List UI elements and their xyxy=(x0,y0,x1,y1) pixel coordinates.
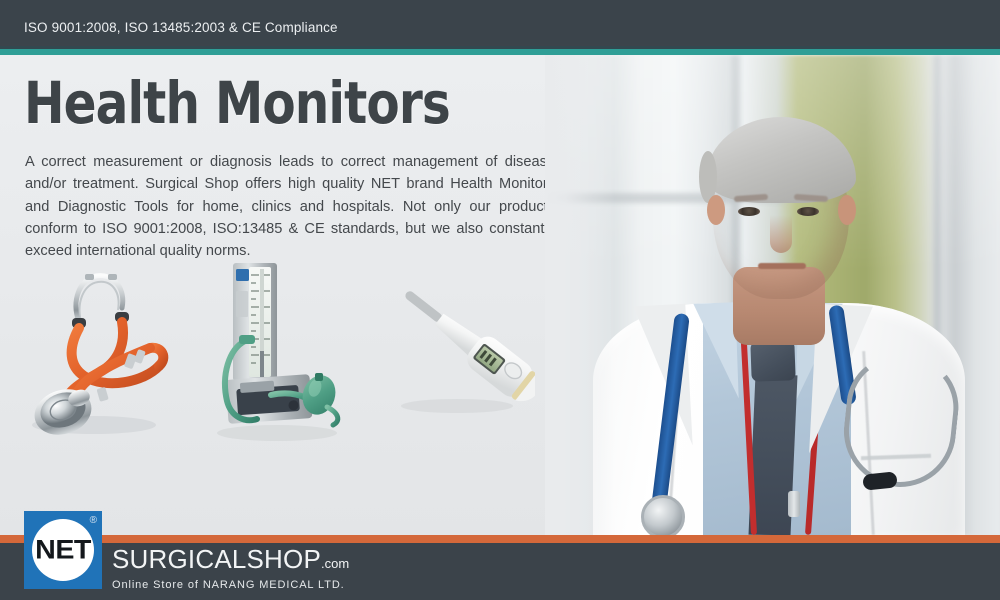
brand-name-line: SURGICALSHOP.com xyxy=(112,546,349,577)
stethoscope-image xyxy=(22,262,192,437)
hair xyxy=(706,117,856,203)
top-bar: ISO 9001:2008, ISO 13485:2003 & CE Compl… xyxy=(0,0,1000,44)
necktie-knot xyxy=(750,340,795,382)
doctor-stethoscope-chestpiece xyxy=(641,495,685,535)
stethoscope-icon xyxy=(22,262,192,437)
lanyard-clip xyxy=(788,491,800,517)
nose xyxy=(770,215,792,253)
net-logo[interactable]: NET ® xyxy=(24,511,102,589)
brand-lockup[interactable]: SURGICALSHOP.com Online Store of NARANG … xyxy=(112,546,349,591)
sphygmomanometer-image xyxy=(205,255,345,445)
compliance-text: ISO 9001:2008, ISO 13485:2003 & CE Compl… xyxy=(24,20,338,35)
ear-right xyxy=(838,195,856,225)
content-area: Health Monitors A correct measurement or… xyxy=(0,55,1000,535)
orange-divider xyxy=(0,535,1000,543)
photo-left-fade xyxy=(545,55,615,535)
eye-right xyxy=(797,207,819,216)
shirt-collar-left xyxy=(693,302,738,399)
eye-left xyxy=(738,207,760,216)
registered-trademark-symbol: ® xyxy=(90,515,97,526)
page-title: Health Monitors xyxy=(24,74,450,132)
ear-left xyxy=(707,195,725,225)
blood-pressure-monitor-icon xyxy=(205,255,345,445)
brand-name: SURGICALSHOP xyxy=(112,544,321,574)
thermometer-icon xyxy=(375,268,535,418)
digital-thermometer-image xyxy=(375,268,535,418)
mouth xyxy=(758,263,806,269)
doctor-photo xyxy=(545,55,1000,535)
brand-tld: .com xyxy=(321,556,349,571)
product-image-row xyxy=(0,260,560,450)
promotional-banner: ISO 9001:2008, ISO 13485:2003 & CE Compl… xyxy=(0,0,1000,600)
description-text: A correct measurement or diagnosis leads… xyxy=(25,151,555,262)
brand-tagline: Online Store of NARANG MEDICAL LTD. xyxy=(112,579,349,591)
net-logo-text: NET xyxy=(35,537,91,564)
